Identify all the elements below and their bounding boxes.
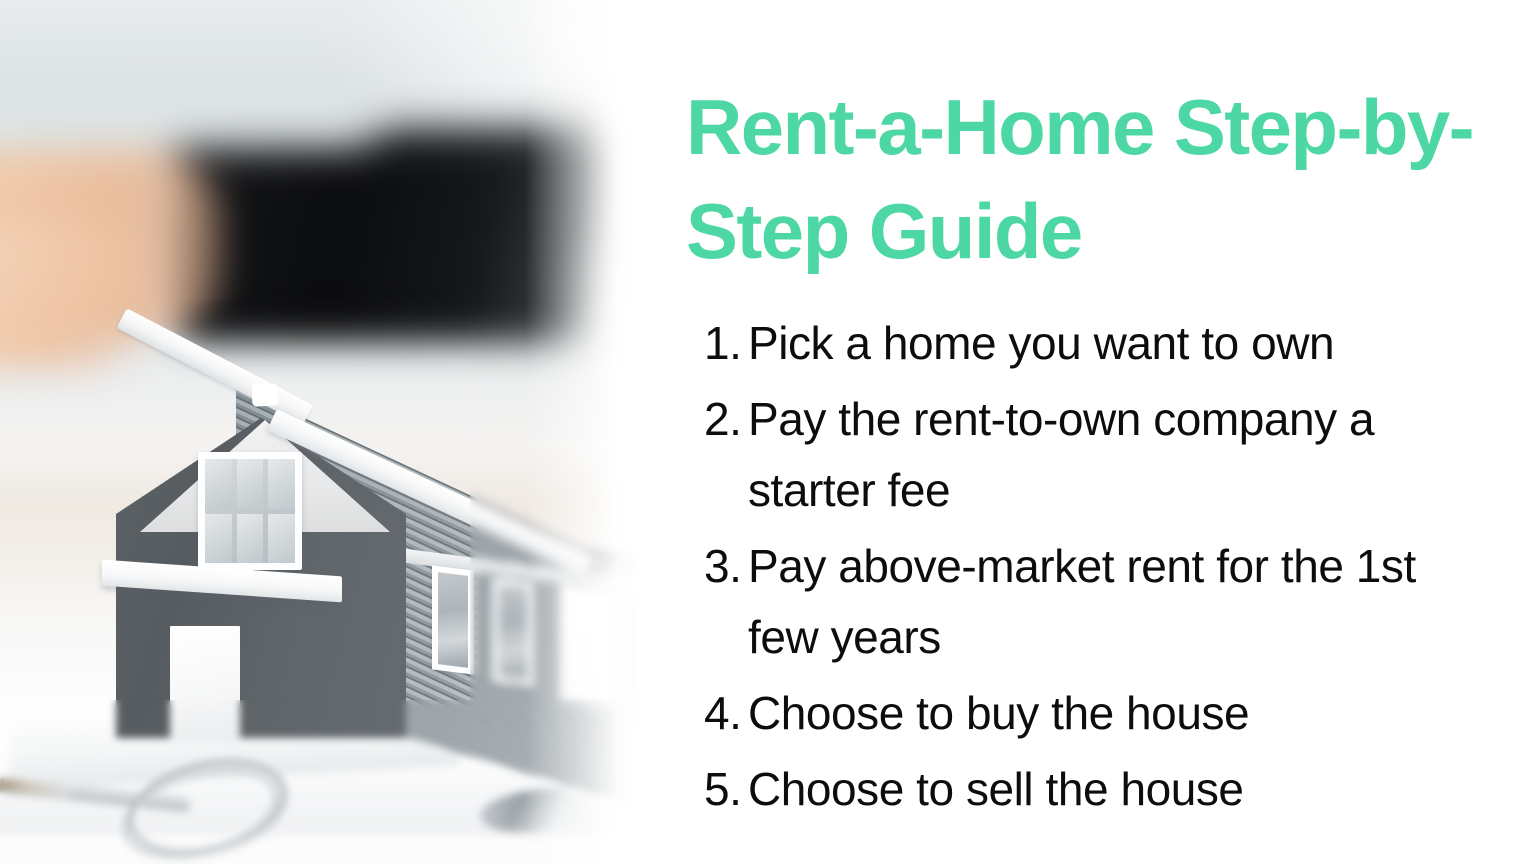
- list-item: Pick a home you want to own: [704, 308, 1474, 379]
- list-item: Pay above-market rent for the 1st few ye…: [704, 531, 1474, 673]
- side-window-1: [432, 565, 474, 674]
- step-text: Choose to sell the house: [748, 763, 1244, 815]
- step-text: Pay the rent-to-own company a starter fe…: [748, 393, 1374, 516]
- steps-list: Pick a home you want to own Pay the rent…: [704, 308, 1474, 830]
- window-pane: [268, 459, 295, 509]
- window-pane: [205, 514, 232, 564]
- hero-photo: [0, 0, 640, 864]
- step-text: Pick a home you want to own: [748, 317, 1334, 369]
- step-text: Pay above-market rent for the 1st few ye…: [748, 540, 1416, 663]
- house-front-door: [170, 626, 240, 742]
- list-item: Choose to buy the house: [704, 678, 1474, 749]
- content-column: Rent-a-Home Step-by- Step Guide Pick a h…: [686, 0, 1476, 864]
- slide-canvas: Rent-a-Home Step-by- Step Guide Pick a h…: [0, 0, 1536, 864]
- side-panel-far: [560, 584, 618, 707]
- window-pane: [268, 514, 295, 564]
- side-window-glass: [498, 584, 528, 680]
- house-roof-ridge: [251, 383, 278, 406]
- page-title: Rent-a-Home Step-by- Step Guide: [686, 76, 1476, 283]
- model-house: [40, 300, 620, 760]
- window-pane: [237, 459, 264, 509]
- gable-window: [198, 452, 302, 570]
- side-window-glass: [438, 572, 468, 668]
- step-text: Choose to buy the house: [748, 687, 1249, 739]
- photo-scene: [0, 0, 640, 864]
- list-item: Pay the rent-to-own company a starter fe…: [704, 384, 1474, 526]
- window-pane: [237, 514, 264, 564]
- gable-window-glass: [205, 459, 295, 563]
- window-pane: [205, 459, 232, 509]
- list-item: Choose to sell the house: [704, 754, 1474, 825]
- house-bargeboard-left: [117, 308, 313, 424]
- side-window-2: [492, 577, 534, 686]
